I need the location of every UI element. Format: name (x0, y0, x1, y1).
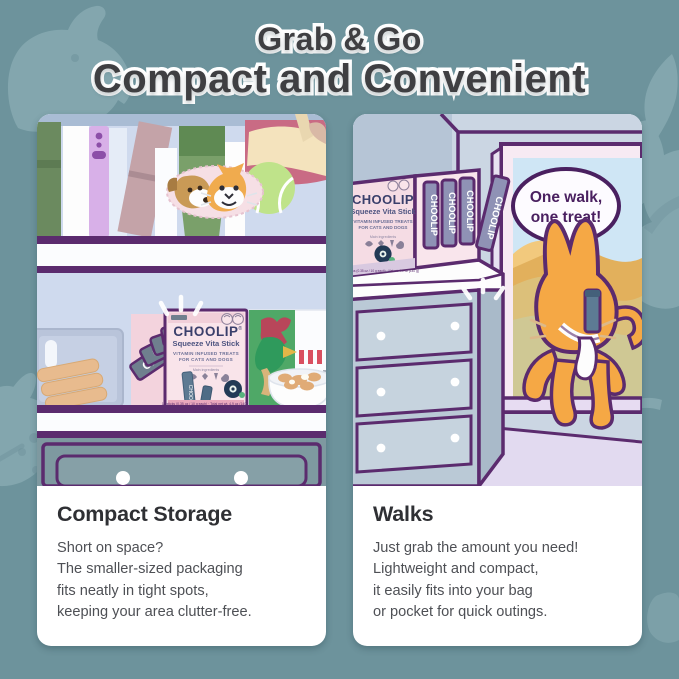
card-body-line: Just grab the amount you need! (373, 538, 622, 559)
page-title: Grab & Go Compact and Convenient (0, 22, 679, 101)
feature-card-compact-storage: CHOOLIP CHOOLIP CHOOLIP (37, 114, 326, 646)
card-body-line: keeping your area clutter-free. (57, 602, 306, 623)
svg-text:Squeeze Vita Stick: Squeeze Vita Stick (353, 207, 416, 216)
illustration-cat-leaving-house: One walk, one treat! (353, 114, 642, 486)
svg-text:®: ® (238, 325, 242, 332)
svg-text:14 sticks (0.35 oz / 10 g each: 14 sticks (0.35 oz / 10 g each) · Net wt… (353, 269, 419, 273)
card-caption-compact-storage: Compact Storage Short on space? The smal… (37, 486, 326, 623)
card-title: Walks (373, 502, 622, 527)
treat-bag (37, 329, 123, 411)
svg-text:CHOOLIP: CHOOLIP (465, 190, 475, 232)
card-body: Short on space? The smaller-sized packag… (57, 538, 306, 623)
card-body-line: fits neatly in tight spots, (57, 581, 306, 602)
feature-card-walks: One walk, one treat! (353, 114, 642, 646)
cereal-box (249, 310, 326, 410)
card-title: Compact Storage (57, 502, 306, 527)
product-box-front: CHOOLIP ® Squeeze Vita Stick VITAMIN INF… (162, 310, 250, 415)
svg-text:CHOOLIP: CHOOLIP (173, 324, 238, 339)
card-body: Just grab the amount you need! Lightweig… (373, 538, 622, 623)
card-body-line: or pocket for quick outings. (373, 602, 622, 623)
svg-text:VITAMIN INFUSED TREATS: VITAMIN INFUSED TREATS (173, 351, 239, 356)
svg-text:Squeeze Vita Stick: Squeeze Vita Stick (173, 339, 241, 348)
cat-silhouette-bottom-right (647, 593, 679, 643)
card-body-line: The smaller-sized packaging (57, 559, 306, 580)
page-title-line-1: Grab & Go (0, 22, 679, 57)
svg-text:Main ingredients: Main ingredients (193, 368, 220, 372)
svg-text:CHOOLIP: CHOOLIP (429, 194, 439, 236)
illustration-cupboard-shelf: CHOOLIP CHOOLIP CHOOLIP (37, 114, 326, 486)
speech-bubble-line-1: One walk, (530, 189, 602, 206)
card-body-line: it easily fits into your bag (373, 581, 622, 602)
svg-text:CHOOLIP: CHOOLIP (353, 192, 414, 207)
svg-text:FOR CATS AND DOGS: FOR CATS AND DOGS (179, 357, 233, 362)
card-body-line: Lightweight and compact, (373, 559, 622, 580)
svg-text:FOR CATS AND DOGS: FOR CATS AND DOGS (359, 225, 408, 230)
counter-cabinet (353, 260, 503, 486)
svg-text:Main ingredients: Main ingredients (370, 235, 397, 239)
card-body-line: Short on space? (57, 538, 306, 559)
svg-text:VITAMIN INFUSED TREATS: VITAMIN INFUSED TREATS (353, 219, 412, 224)
card-caption-walks: Walks Just grab the amount you need! Lig… (353, 486, 642, 623)
page-title-line-2: Compact and Convenient (0, 58, 679, 101)
svg-text:CHOOLIP: CHOOLIP (447, 192, 457, 234)
